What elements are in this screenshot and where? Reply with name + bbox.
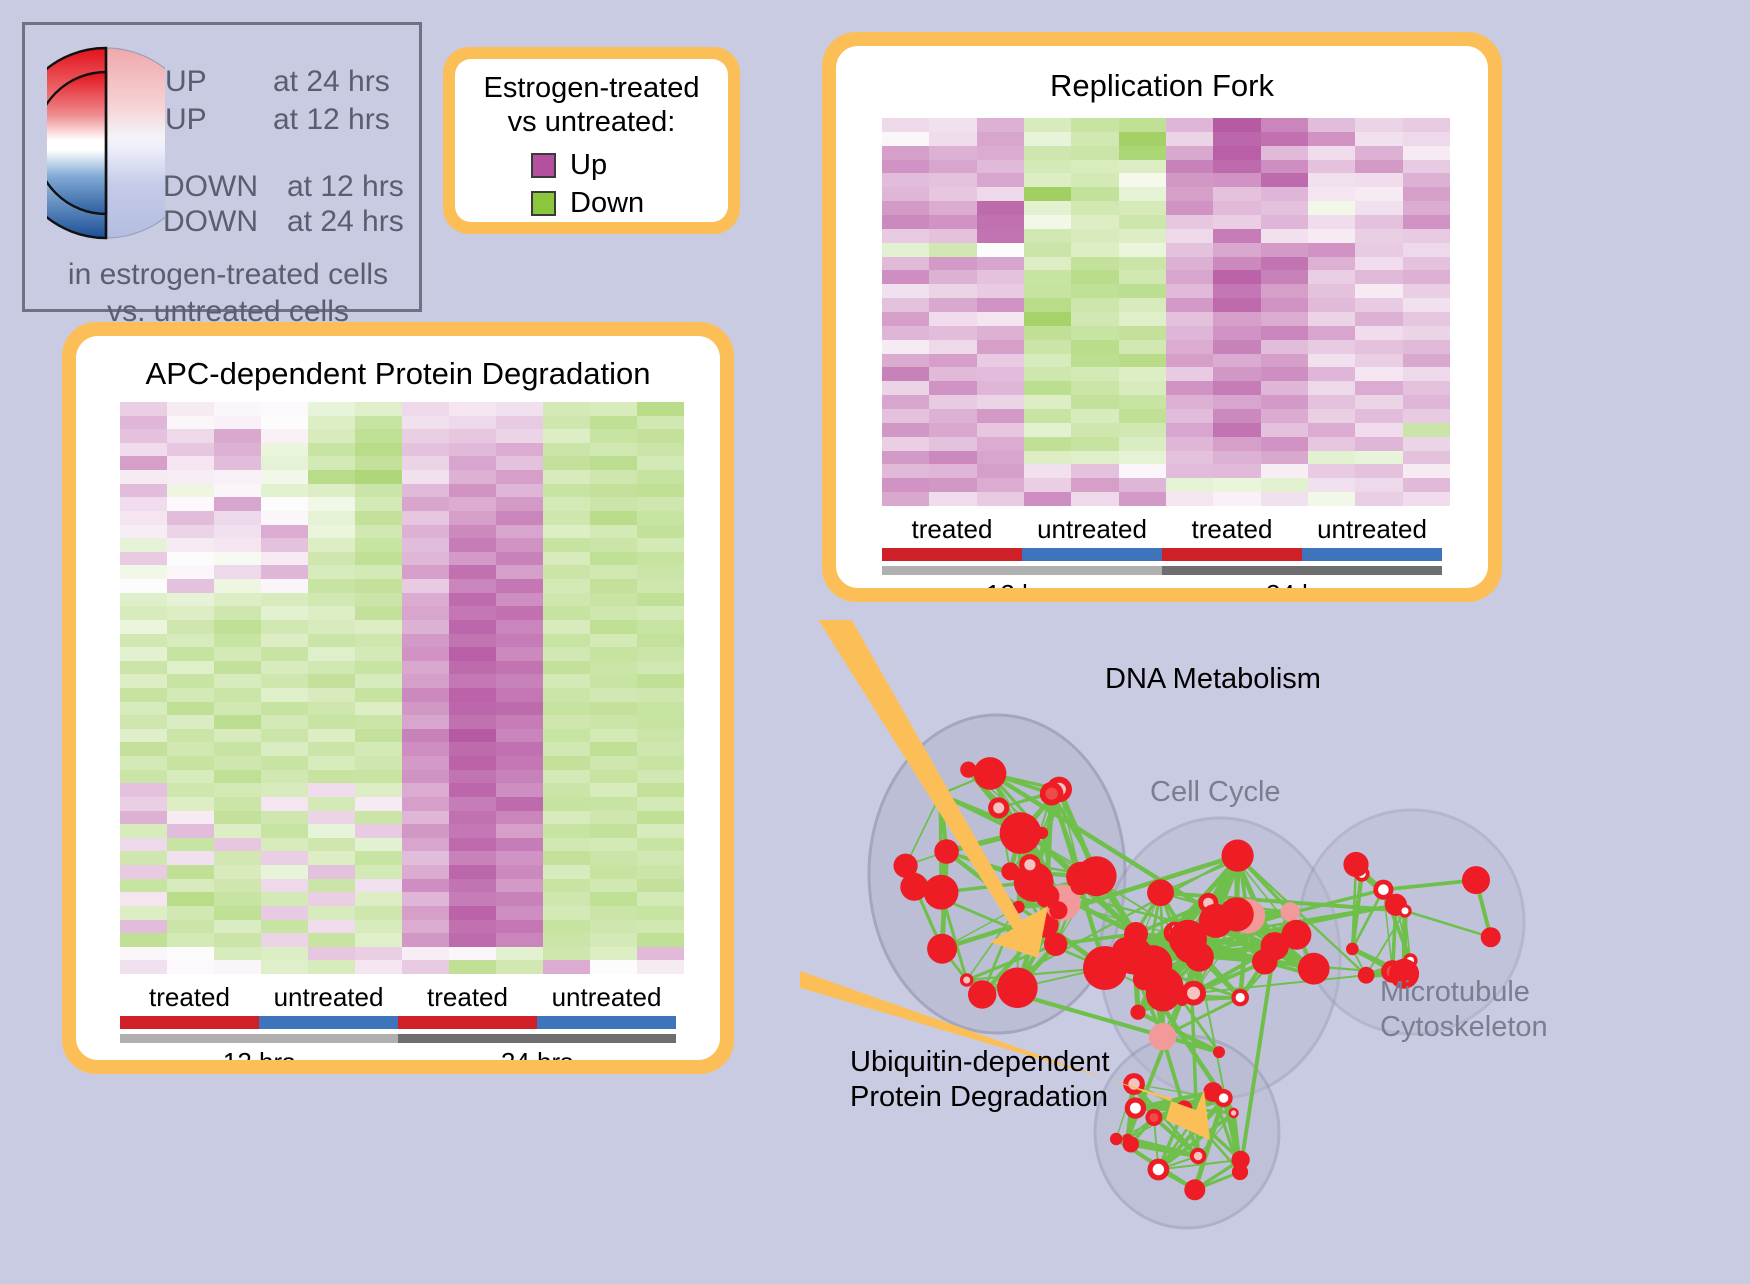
legend-up-24-time: at 24 hrs <box>273 65 390 99</box>
network-node-core <box>1194 1152 1203 1161</box>
network-node[interactable] <box>1147 879 1174 906</box>
down-color-swatch <box>531 191 556 216</box>
condition-color-bar <box>882 548 1442 561</box>
apc-degradation-inner: APC-dependent Protein Degradation treate… <box>76 336 720 1060</box>
condition-bar-1 <box>259 1016 398 1029</box>
estrogen-key-inner: Estrogen-treated vs untreated: Up Down <box>455 59 728 222</box>
apc-degradation-title: APC-dependent Protein Degradation <box>76 356 720 392</box>
estrogen-key-title-line1: Estrogen-treated <box>455 71 728 105</box>
network-node-core <box>1187 987 1200 1000</box>
network-node-core <box>1024 859 1035 870</box>
network-node[interactable] <box>1110 1133 1122 1145</box>
condition-label-0: treated <box>882 514 1022 545</box>
network-node[interactable] <box>1229 852 1245 868</box>
cluster-label-ubiquitin-line2: Protein Degradation <box>850 1080 1110 1115</box>
network-node[interactable] <box>974 757 1007 790</box>
apc-degradation-axis: treateduntreatedtreateduntreated 12 hrs2… <box>76 982 720 1060</box>
network-node[interactable] <box>1281 902 1300 921</box>
condition-label-3: untreated <box>1302 514 1442 545</box>
network-node-core <box>963 977 970 984</box>
replication-fork-inner: Replication Fork treateduntreatedtreated… <box>836 46 1488 588</box>
condition-labels: treateduntreatedtreateduntreated <box>882 514 1442 545</box>
condition-label-2: treated <box>398 982 537 1013</box>
network-node-core <box>1219 1093 1228 1102</box>
network-node[interactable] <box>1070 876 1089 895</box>
color-wheel-icon <box>47 43 165 243</box>
network-node[interactable] <box>934 839 959 864</box>
up-label: Up <box>570 151 607 180</box>
network-node-core <box>1150 1113 1159 1122</box>
network-node-core <box>1231 1110 1236 1115</box>
condition-label-3: untreated <box>537 982 676 1013</box>
network-node[interactable] <box>1213 1046 1225 1058</box>
legend-caption: in estrogen-treated cells vs. untreated … <box>63 257 393 330</box>
condition-labels: treateduntreatedtreateduntreated <box>120 982 676 1013</box>
timepoint-labels: 12 hrs24 hrs <box>120 1047 676 1060</box>
legend-up-24-label: UP <box>165 65 207 99</box>
down-label: Down <box>570 189 644 218</box>
key-legend-up: Up <box>531 151 607 180</box>
network-node-core <box>1153 1164 1164 1175</box>
condition-color-bar <box>120 1016 676 1029</box>
condition-bar-3 <box>537 1016 676 1029</box>
time-label-0: 12 hrs <box>120 1047 398 1060</box>
cluster-label-ubiquitin-line1: Ubiquitin-dependent <box>850 1045 1110 1080</box>
network-node[interactable] <box>1281 920 1311 950</box>
condition-label-2: treated <box>1162 514 1302 545</box>
network-node[interactable] <box>1083 946 1127 990</box>
network-node[interactable] <box>1153 962 1172 981</box>
replication-fork-panel: Replication Fork treateduntreatedtreated… <box>822 32 1502 602</box>
condition-bar-0 <box>120 1016 259 1029</box>
condition-bar-1 <box>1022 548 1162 561</box>
network-node[interactable] <box>1123 1134 1133 1144</box>
time-bar-1 <box>1162 566 1442 575</box>
time-bar-1 <box>398 1034 676 1043</box>
network-node[interactable] <box>1462 866 1490 894</box>
condition-label-1: untreated <box>259 982 398 1013</box>
network-node[interactable] <box>1130 1005 1145 1020</box>
estrogen-key-title-line2: vs untreated: <box>455 105 728 139</box>
condition-bar-0 <box>882 548 1022 561</box>
up-color-swatch <box>531 153 556 178</box>
network-node-core <box>1402 907 1409 914</box>
network-node[interactable] <box>1358 967 1375 984</box>
time-label-1: 24 hrs <box>398 1047 676 1060</box>
cluster-label-microtubule-line2: Cytoskeleton <box>1380 1010 1548 1045</box>
network-node[interactable] <box>1343 852 1368 877</box>
time-bar-0 <box>882 566 1162 575</box>
legend-down-12-time: at 12 hrs <box>287 170 404 204</box>
condition-label-0: treated <box>120 982 259 1013</box>
cluster-ubiquitin <box>1095 1036 1279 1228</box>
legend-up-12-label: UP <box>165 103 207 137</box>
network-node[interactable] <box>1018 821 1037 840</box>
network-node[interactable] <box>1149 1023 1176 1050</box>
network-node-core <box>1130 1103 1141 1114</box>
timepoint-color-bar <box>882 566 1442 575</box>
legend-down-24-label: DOWN <box>163 205 258 239</box>
cluster-label-ubiquitin: Ubiquitin-dependent Protein Degradation <box>850 1045 1110 1115</box>
estrogen-key-panel: Estrogen-treated vs untreated: Up Down <box>443 47 740 234</box>
cluster-label-microtubule: Microtubule Cytoskeleton <box>1380 975 1548 1045</box>
network-node-core <box>1378 884 1389 895</box>
replication-fork-heatmap <box>882 118 1450 506</box>
replication-fork-axis: treateduntreatedtreateduntreated 12 hrs2… <box>836 514 1488 588</box>
network-node-core <box>1046 788 1058 800</box>
apc-degradation-panel: APC-dependent Protein Degradation treate… <box>62 322 734 1074</box>
network-node[interactable] <box>927 934 957 964</box>
cluster-label-cell-cycle: Cell Cycle <box>1150 775 1281 810</box>
network-node[interactable] <box>894 854 918 878</box>
timepoint-color-bar <box>120 1034 676 1043</box>
network-node[interactable] <box>997 968 1038 1009</box>
cluster-label-microtubule-line1: Microtubule <box>1380 975 1548 1010</box>
network-node[interactable] <box>1346 943 1359 956</box>
cluster-label-dna-metabolism: DNA Metabolism <box>1105 662 1321 697</box>
network-node[interactable] <box>1481 927 1501 947</box>
condition-label-1: untreated <box>1022 514 1162 545</box>
network-node[interactable] <box>1169 920 1207 958</box>
network-node[interactable] <box>1184 1179 1205 1200</box>
replication-fork-title: Replication Fork <box>836 68 1488 104</box>
pathway-network-diagram: DNA Metabolism Cell Cycle Microtubule Cy… <box>800 620 1750 1279</box>
time-bar-0 <box>120 1034 398 1043</box>
legend-down-24-time: at 24 hrs <box>287 205 404 239</box>
time-label-1: 24 hrs <box>1162 579 1442 588</box>
condition-bar-2 <box>398 1016 537 1029</box>
condition-bar-2 <box>1162 548 1302 561</box>
network-node[interactable] <box>924 875 959 910</box>
time-label-0: 12 hrs <box>882 579 1162 588</box>
network-node-core <box>993 802 1004 813</box>
timepoint-labels: 12 hrs24 hrs <box>882 579 1442 588</box>
key-legend-down: Down <box>531 189 644 218</box>
network-node[interactable] <box>1298 953 1330 985</box>
legend-caption-line1: in estrogen-treated cells <box>63 257 393 294</box>
apc-degradation-heatmap <box>120 402 684 974</box>
network-svg <box>800 620 1750 1279</box>
network-node[interactable] <box>968 980 996 1008</box>
color-wheel-legend-box: UP at 24 hrs UP at 12 hrs DOWN at 12 hrs… <box>22 22 422 312</box>
network-node-core <box>1236 993 1245 1002</box>
figure-root: UP at 24 hrs UP at 12 hrs DOWN at 12 hrs… <box>0 0 1750 1279</box>
network-node[interactable] <box>1124 922 1148 946</box>
network-node[interactable] <box>1232 1164 1248 1180</box>
condition-bar-3 <box>1302 548 1442 561</box>
legend-up-12-time: at 12 hrs <box>273 103 390 137</box>
network-node[interactable] <box>960 762 976 778</box>
estrogen-key-title: Estrogen-treated vs untreated: <box>455 71 728 139</box>
legend-down-12-label: DOWN <box>163 170 258 204</box>
